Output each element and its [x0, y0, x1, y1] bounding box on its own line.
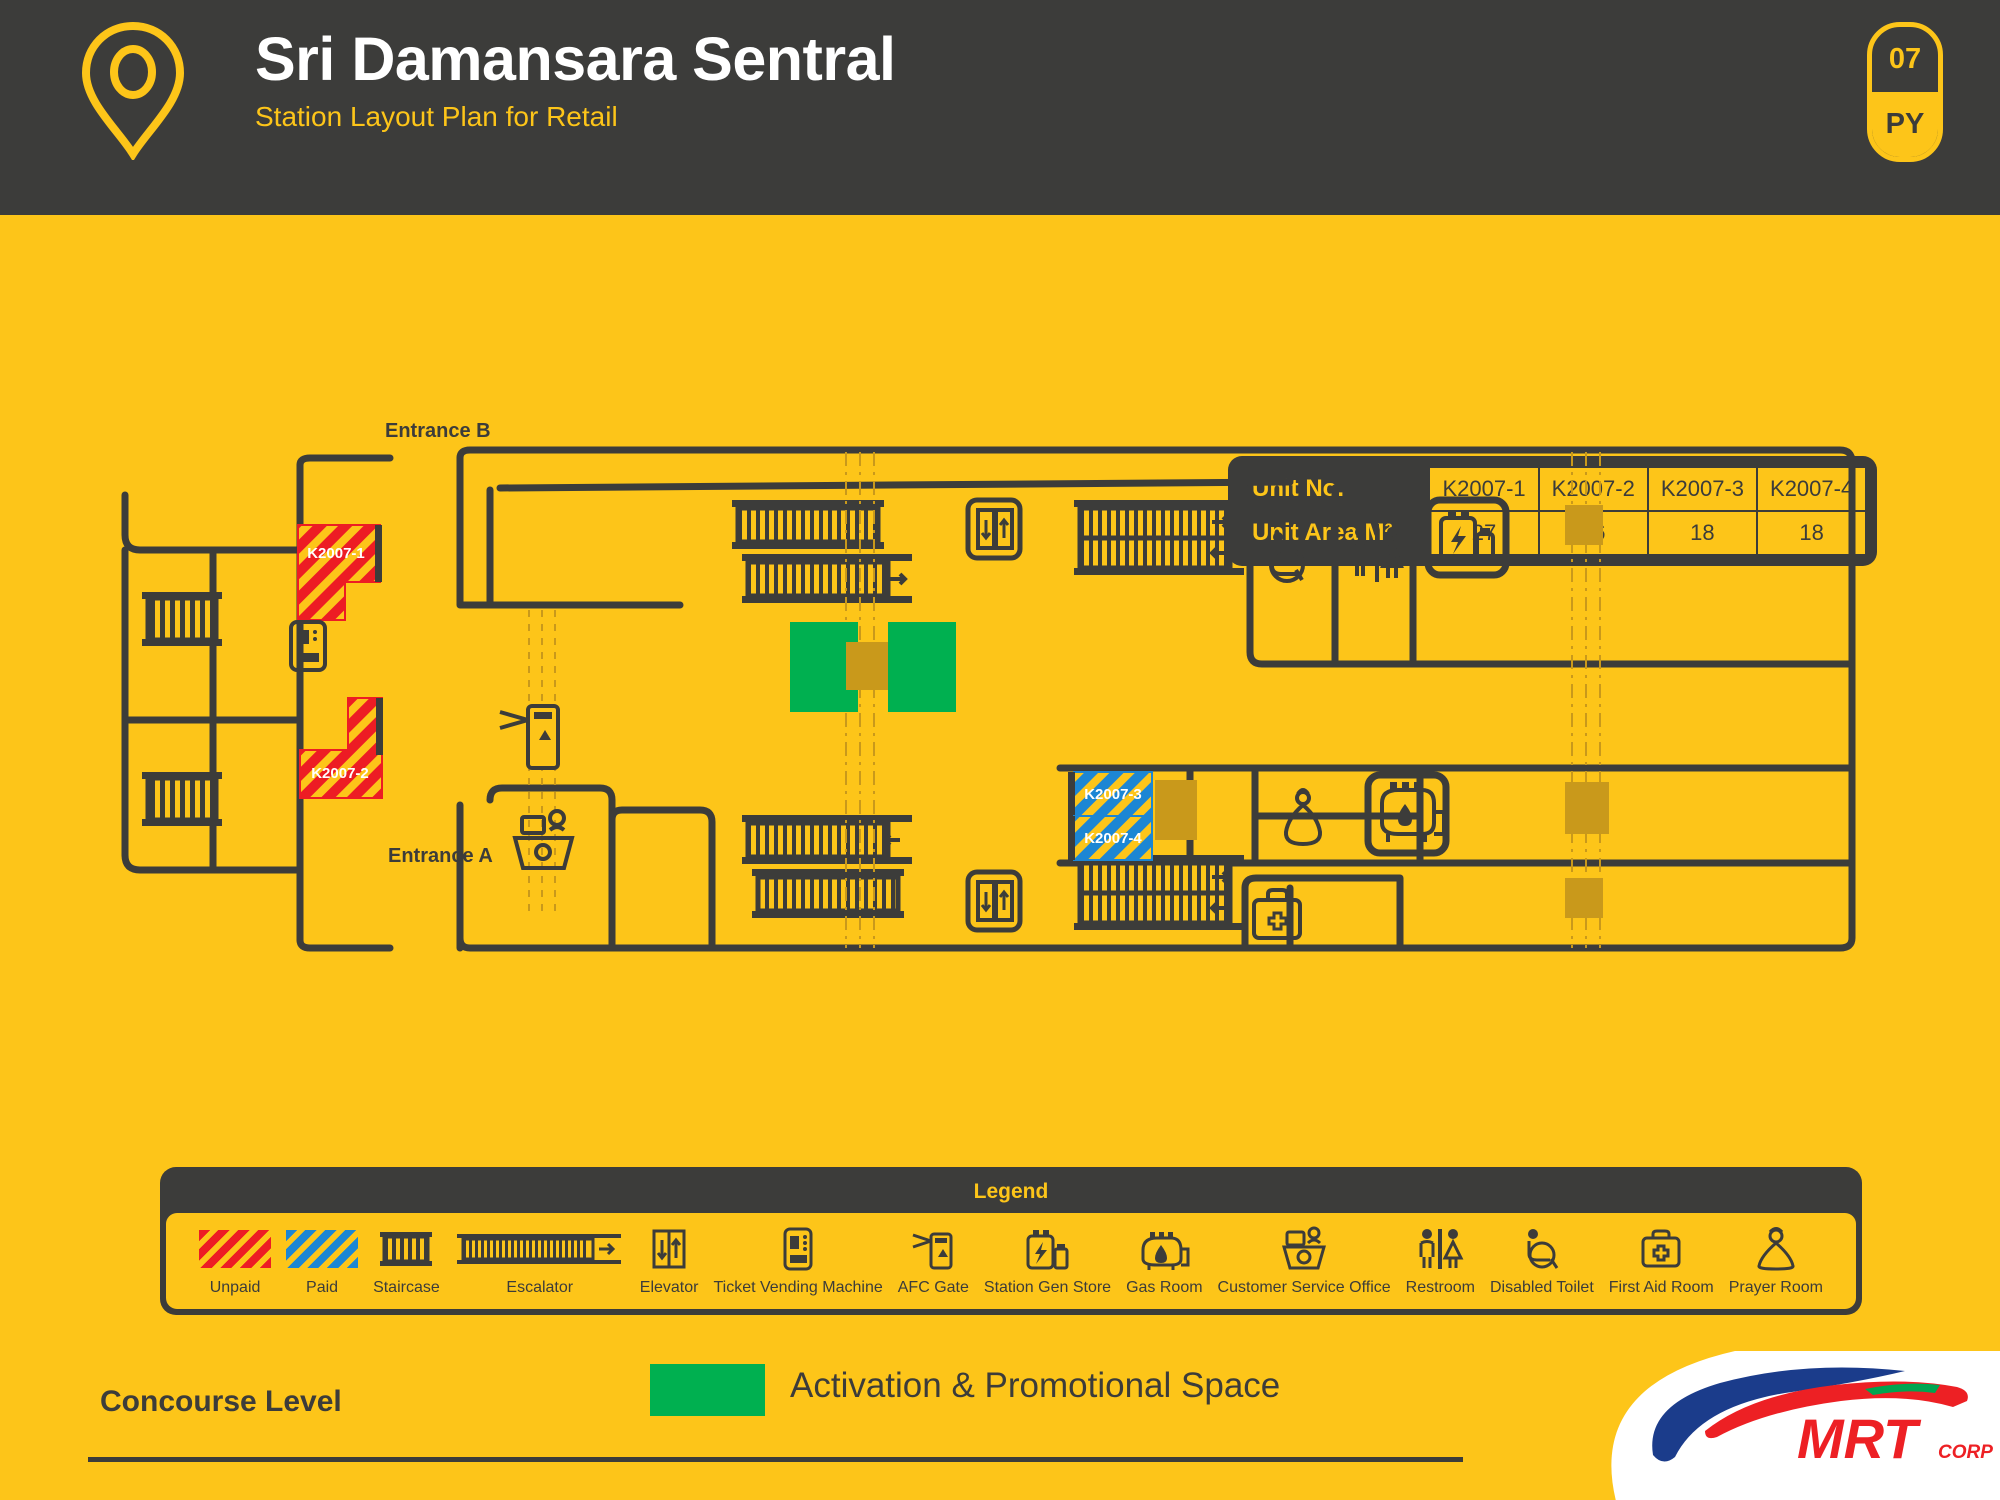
legend-label: Customer Service Office	[1218, 1279, 1391, 1297]
line-number: 07	[1872, 27, 1938, 92]
vertical-core	[1565, 505, 1603, 545]
station-gen-store-icon	[1024, 1226, 1070, 1272]
afc-gate-icon	[500, 706, 558, 768]
entrance-a-label: Entrance A	[388, 845, 493, 868]
promotional-space-label: Activation & Promotional Space	[790, 1366, 1280, 1406]
escalator-icon	[752, 869, 904, 918]
retail-unit-K2007-3: K2007-3	[1068, 772, 1152, 816]
staircase-icon	[376, 1226, 436, 1272]
elevator-icon	[968, 872, 1020, 930]
line-code: PY	[1872, 92, 1938, 157]
legend-label: Restroom	[1406, 1279, 1475, 1297]
page-subtitle: Station Layout Plan for Retail	[255, 101, 895, 133]
ticket-vending-machine-icon	[291, 622, 325, 670]
svg-text:CORP: CORP	[1938, 1442, 1993, 1463]
escalator-icon	[742, 815, 912, 864]
legend-item-paid: Paid	[281, 1226, 363, 1297]
legend-item-station-gen-store: Station Gen Store	[979, 1226, 1116, 1297]
escalator-icon	[742, 554, 912, 603]
svg-text:K2007-4: K2007-4	[1084, 830, 1142, 847]
afc-gate-icon	[909, 1226, 957, 1272]
station-floor-plan: K2007-1 K2007-2	[0, 420, 2000, 1000]
vertical-core	[1565, 878, 1603, 918]
title-block: Sri Damansara Sentral Station Layout Pla…	[255, 25, 895, 133]
legend-item-afc-gate: AFC Gate	[893, 1226, 974, 1297]
legend-label: AFC Gate	[898, 1279, 969, 1297]
promotional-space	[888, 622, 956, 712]
escalator-icon	[1074, 500, 1244, 575]
retail-unit-K2007-2: K2007-2	[300, 698, 383, 798]
legend-item-staircase: Staircase	[368, 1226, 445, 1297]
legend-label: First Aid Room	[1609, 1279, 1714, 1297]
elevator-icon	[646, 1226, 692, 1272]
legend-item-prayer-room: Prayer Room	[1724, 1226, 1828, 1297]
staircase-icon	[142, 592, 222, 646]
entrance-b-label: Entrance B	[385, 420, 491, 443]
legend-item-escalator: Escalator	[450, 1226, 630, 1297]
legend-item-disabled-toilet: Disabled Toilet	[1485, 1226, 1599, 1297]
escalator-icon	[732, 500, 884, 549]
location-pin-icon	[78, 20, 188, 160]
legend-item-first-aid-room: First Aid Room	[1604, 1226, 1719, 1297]
legend-item-customer-service-office: Customer Service Office	[1213, 1226, 1396, 1297]
hatch-red-swatch	[199, 1230, 271, 1268]
disabled-toilet-icon	[1520, 1226, 1564, 1272]
restroom-icon	[1414, 1226, 1466, 1272]
legend-label: Elevator	[640, 1279, 699, 1297]
retail-unit-K2007-1: K2007-1	[298, 525, 382, 620]
hatch-blue-swatch	[286, 1230, 358, 1268]
svg-text:K2007-2: K2007-2	[311, 765, 369, 782]
legend-item-gas-room: Gas Room	[1121, 1226, 1207, 1297]
escalator-icon	[455, 1226, 625, 1272]
vertical-core	[1565, 782, 1609, 834]
header-divider	[0, 215, 2000, 223]
restroom-icon	[1353, 524, 1401, 582]
line-code-badge: 07 PY	[1867, 22, 1943, 162]
disabled-toilet-icon	[1271, 532, 1303, 581]
retail-unit-K2007-4: K2007-4	[1068, 816, 1152, 860]
level-label: Concourse Level	[100, 1385, 342, 1419]
vertical-core	[846, 642, 888, 690]
svg-text:K2007-1: K2007-1	[307, 545, 365, 562]
customer-service-office-icon	[1280, 1226, 1328, 1272]
gas-room-icon	[1137, 1226, 1191, 1272]
svg-text:MRT: MRT	[1797, 1407, 1922, 1470]
legend-label: Station Gen Store	[984, 1279, 1111, 1297]
promotional-space-swatch	[650, 1364, 765, 1416]
page-title: Sri Damansara Sentral	[255, 25, 895, 93]
legend-label: Escalator	[506, 1279, 573, 1297]
station-gen-store-icon	[1441, 512, 1493, 560]
ticket-vending-machine-icon	[781, 1226, 815, 1272]
vertical-core	[1155, 780, 1197, 840]
first-aid-room-icon	[1639, 1226, 1683, 1272]
legend-label: Prayer Room	[1729, 1279, 1823, 1297]
customer-service-office-icon	[515, 811, 572, 868]
legend-item-elevator: Elevator	[635, 1226, 704, 1297]
legend-panel: Legend Unpaid Paid	[160, 1167, 1862, 1315]
legend-item-unpaid: Unpaid	[194, 1226, 276, 1297]
legend-label: Ticket Vending Machine	[713, 1279, 882, 1297]
footer-divider	[88, 1457, 1463, 1462]
legend-item-ticket-vending-machine: Ticket Vending Machine	[708, 1226, 887, 1297]
legend-items: Unpaid Paid	[166, 1213, 1856, 1309]
legend-label: Unpaid	[210, 1279, 261, 1297]
prayer-room-icon	[1756, 1226, 1796, 1272]
legend-label: Gas Room	[1126, 1279, 1202, 1297]
legend-label: Staircase	[373, 1279, 440, 1297]
paid-swatch-wrap	[286, 1226, 358, 1272]
header-bar: Sri Damansara Sentral Station Layout Pla…	[0, 0, 2000, 215]
svg-text:K2007-3: K2007-3	[1084, 786, 1142, 803]
legend-item-restroom: Restroom	[1401, 1226, 1480, 1297]
customer-service-office-icon	[1382, 782, 1444, 842]
mrt-corp-logo: MRT CORP	[1605, 1345, 2000, 1500]
legend-label: Paid	[306, 1279, 338, 1297]
legend-label: Disabled Toilet	[1490, 1279, 1594, 1297]
escalator-icon	[1074, 855, 1244, 930]
elevator-icon	[968, 500, 1020, 558]
staircase-icon	[142, 772, 222, 826]
unpaid-swatch-wrap	[199, 1226, 271, 1272]
legend-title: Legend	[166, 1173, 1856, 1213]
